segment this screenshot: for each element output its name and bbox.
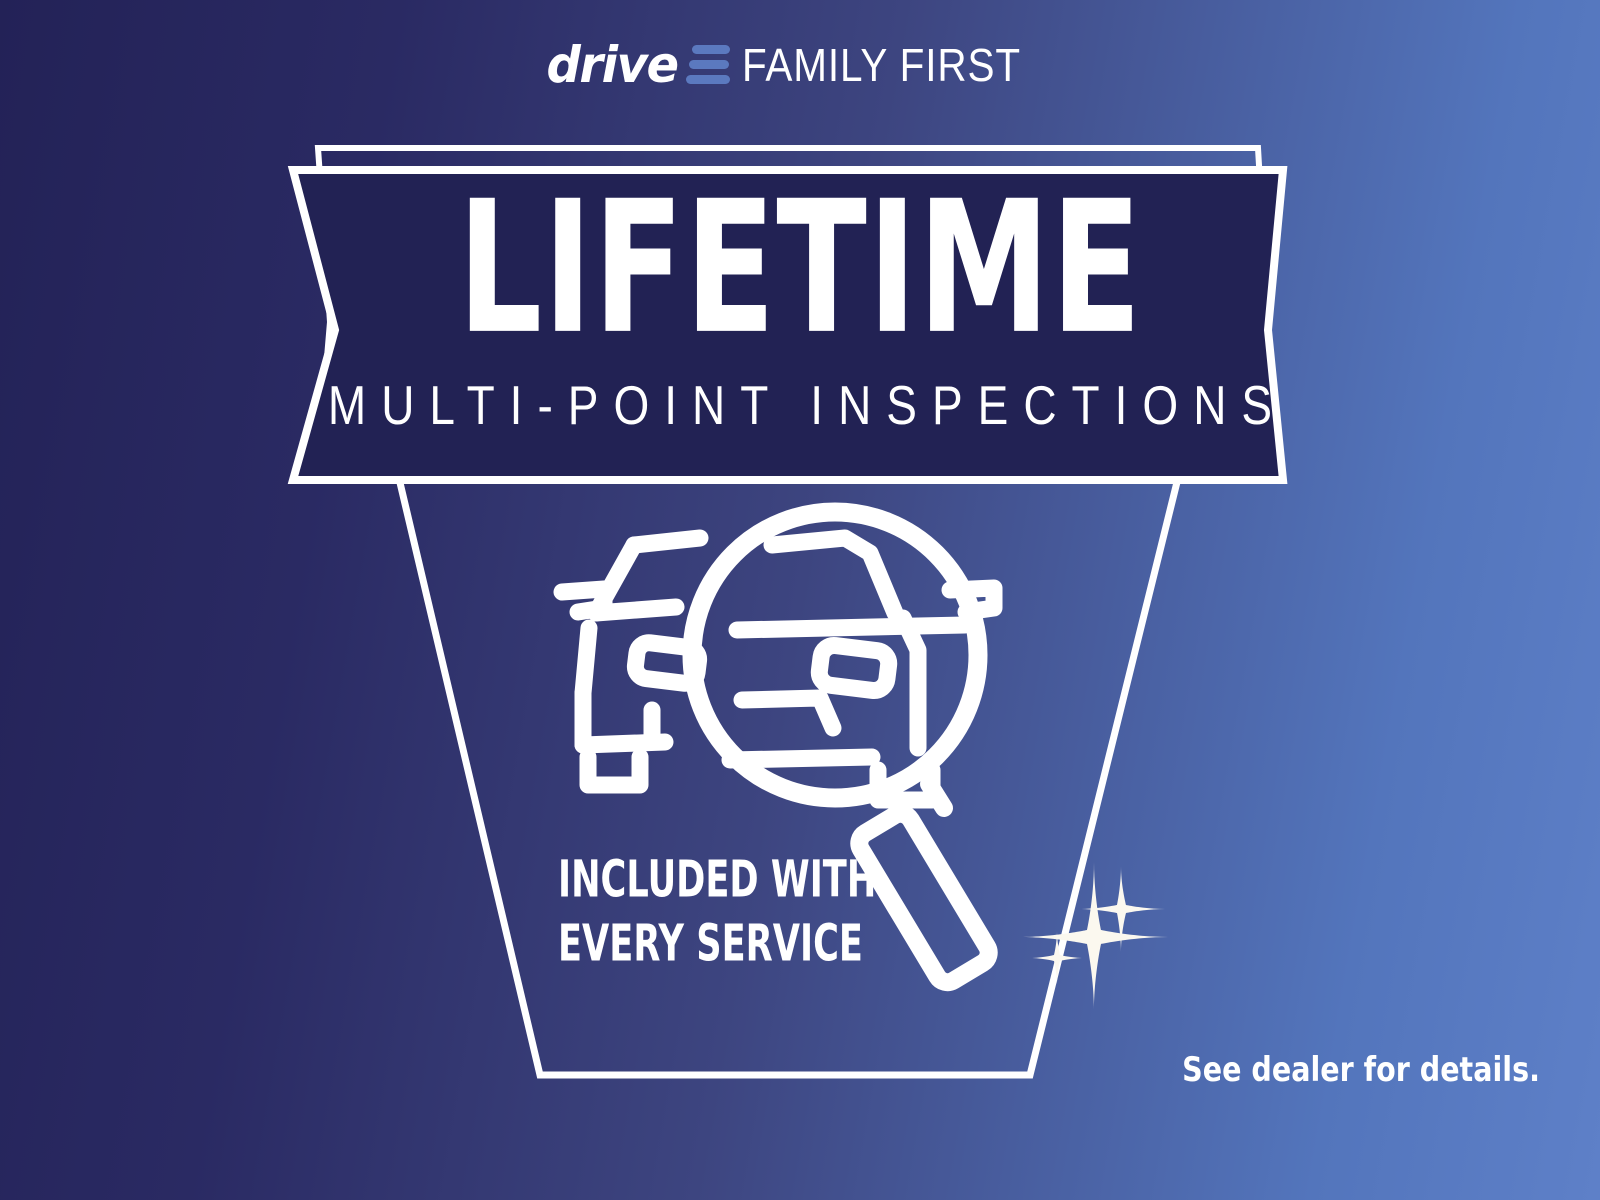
three-bars-icon bbox=[686, 45, 730, 86]
banner-subheadline: MULTI-POINT INSPECTIONS bbox=[0, 378, 1600, 432]
magnifier-lens bbox=[692, 512, 978, 798]
callout-line-1: INCLUDED WITH bbox=[558, 848, 876, 912]
callout-line-2: EVERY SERVICE bbox=[558, 912, 876, 976]
brand-logo: drive FAMILY FIRST bbox=[0, 34, 1600, 96]
promo-graphic: drive FAMILY FIRST LIFETIME MULTI-POINT … bbox=[0, 0, 1600, 1200]
callout-text: INCLUDED WITH EVERY SERVICE bbox=[558, 848, 876, 977]
banner-headline: LIFETIME bbox=[160, 178, 1440, 361]
bar-top bbox=[692, 45, 730, 54]
bar-bottom bbox=[686, 75, 730, 84]
sparkle-stars-icon bbox=[1020, 862, 1168, 1010]
brand-wordmark: drive bbox=[547, 40, 678, 90]
magnifier-handle bbox=[884, 806, 963, 928]
brand-tagline: FAMILY FIRST bbox=[742, 42, 1021, 88]
disclaimer-text: See dealer for details. bbox=[1182, 1053, 1540, 1087]
bar-middle bbox=[689, 60, 729, 69]
shield-outline bbox=[397, 470, 1180, 1075]
